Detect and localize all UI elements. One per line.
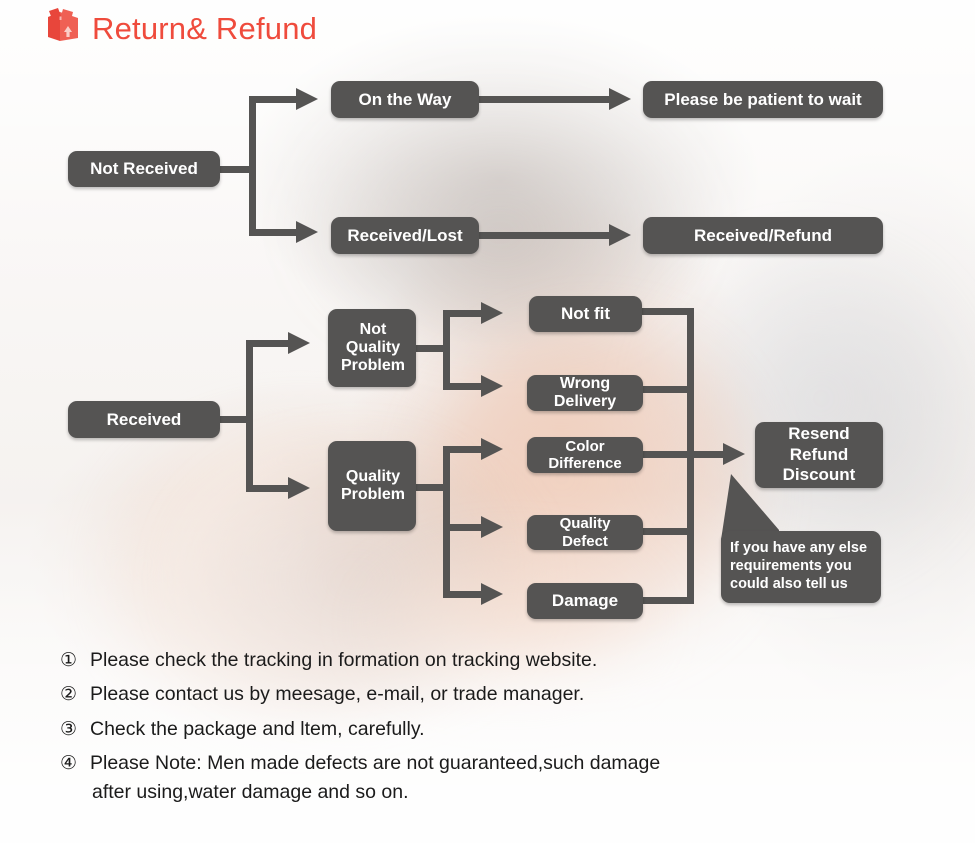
arrow-to-wrong-delivery — [481, 375, 503, 397]
connector-wrong-delivery-rail — [642, 386, 693, 393]
note-item: ① Please check the tracking in formation… — [60, 648, 940, 673]
note-marker: ① — [60, 648, 90, 673]
note-text-line-2: after using,water damage and so on. — [90, 780, 940, 805]
node-please-be-patient-to-wait[interactable]: Please be patient to wait — [643, 81, 883, 118]
note-text: Check the package and ltem, carefully. — [90, 717, 940, 742]
note-text: Please check the tracking in formation o… — [90, 648, 940, 673]
note-text-line-1: Please Note: Men made defects are not gu… — [90, 752, 660, 774]
node-on-the-way[interactable]: On the Way — [331, 81, 479, 118]
connector-received-lost-to-refund — [479, 232, 617, 239]
arrow-to-quality-problem — [288, 477, 310, 499]
note-item: ④ Please Note: Men made defects are not … — [60, 751, 940, 806]
node-received-lost[interactable]: Received/Lost — [331, 217, 479, 254]
footer-notes: ① Please check the tracking in formation… — [60, 648, 940, 815]
node-resend-refund-discount[interactable]: Resend Refund Discount — [755, 422, 883, 488]
arrow-to-please-wait — [609, 88, 631, 110]
header: Return& Refund — [46, 8, 317, 49]
note-text: Please Note: Men made defects are not gu… — [90, 751, 940, 806]
page-title: Return& Refund — [92, 13, 317, 44]
node-wrong-delivery[interactable]: Wrong Delivery — [527, 375, 643, 411]
arrow-to-not-fit — [481, 302, 503, 324]
arrow-to-not-quality-problem — [288, 332, 310, 354]
connector-on-the-way-to-wait — [479, 96, 617, 103]
arrow-to-on-the-way — [296, 88, 318, 110]
note-marker: ② — [60, 682, 90, 707]
node-not-quality-problem[interactable]: Not Quality Problem — [328, 309, 416, 387]
connector-color-difference-rail — [642, 451, 693, 458]
arrow-to-resend-refund-discount — [723, 443, 745, 465]
node-color-difference[interactable]: Color Difference — [527, 437, 643, 473]
note-item: ③ Check the package and ltem, carefully. — [60, 717, 940, 742]
arrow-to-received-refund — [609, 224, 631, 246]
connector-received-split — [246, 340, 253, 492]
connector-quality-defect-rail — [642, 528, 693, 535]
note-item: ② Please contact us by meesage, e-mail, … — [60, 682, 940, 707]
arrow-to-received-lost — [296, 221, 318, 243]
return-package-icon — [46, 8, 80, 49]
node-not-received[interactable]: Not Received — [68, 151, 220, 187]
return-refund-infographic: Return& Refund Not Received On the Way R… — [0, 0, 975, 843]
arrow-to-color-difference — [481, 438, 503, 460]
note-marker: ④ — [60, 751, 90, 776]
node-extra-requirements-note: If you have any else requirements you co… — [721, 531, 881, 603]
node-quality-defect[interactable]: Quality Defect — [527, 515, 643, 550]
node-not-fit[interactable]: Not fit — [529, 296, 642, 332]
node-received[interactable]: Received — [68, 401, 220, 438]
connector-not-quality-split — [443, 310, 450, 390]
note-marker: ③ — [60, 717, 90, 742]
connector-not-received-split — [249, 96, 256, 236]
connector-not-fit-rail — [641, 308, 693, 315]
connector-damage-rail — [642, 597, 693, 604]
node-received-refund[interactable]: Received/Refund — [643, 217, 883, 254]
note-text: Please contact us by meesage, e-mail, or… — [90, 682, 940, 707]
connector-quality-split — [443, 446, 450, 598]
node-damage[interactable]: Damage — [527, 583, 643, 619]
arrow-to-damage — [481, 583, 503, 605]
arrow-to-quality-defect — [481, 516, 503, 538]
node-quality-problem[interactable]: Quality Problem — [328, 441, 416, 531]
